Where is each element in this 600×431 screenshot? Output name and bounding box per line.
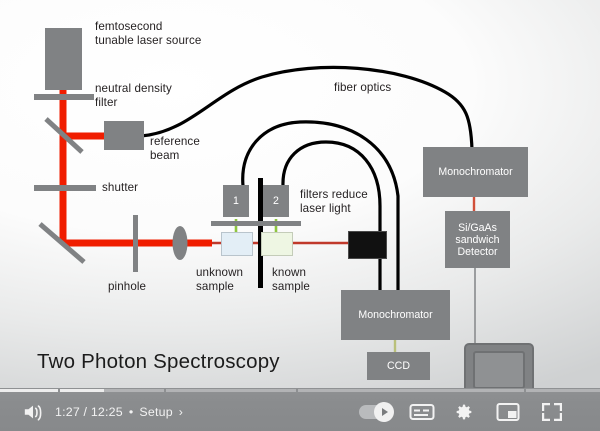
autoplay-toggle-icon[interactable]: [359, 405, 391, 419]
fullscreen-button[interactable]: [532, 392, 572, 431]
label-shutter: shutter: [102, 181, 138, 195]
monochromator-top-label: Monochromator: [423, 166, 528, 178]
volume-button[interactable]: [16, 392, 50, 431]
focusing-lens: [173, 226, 188, 260]
filter-box-1-label: 1: [223, 195, 249, 207]
video-player[interactable]: 1 2 Monochromator Si/GaAs sandwich Detec…: [0, 0, 600, 431]
subtitles-button[interactable]: [404, 392, 440, 431]
controls-row[interactable]: 1:27 / 12:25 • Setup ›: [0, 392, 600, 431]
label-filters-reduce-laser-light: filters reduce laser light: [300, 188, 368, 215]
chapter-separator: •: [123, 405, 140, 419]
filter-bar-2: [251, 221, 301, 226]
computer-monitor: [459, 344, 539, 388]
monochromator-bottom-box: Monochromator: [341, 290, 450, 340]
closed-captions-icon: [409, 403, 435, 421]
filter-box-1: 1: [223, 185, 249, 217]
label-reference-beam: reference beam: [150, 135, 200, 162]
fullscreen-icon: [541, 402, 563, 422]
autoplay-toggle[interactable]: [352, 392, 398, 431]
known-sample-cuvette: [261, 232, 293, 256]
detector-box: Si/GaAs sandwich Detector: [445, 211, 510, 268]
filter-box-2-label: 2: [263, 195, 289, 207]
label-unknown-sample: unknown sample: [196, 266, 243, 293]
time-display: 1:27 / 12:25: [55, 405, 123, 419]
unknown-sample-cuvette: [221, 232, 253, 256]
beam-dump: [348, 231, 387, 259]
filter-box-2: 2: [263, 185, 289, 217]
miniplayer-icon: [496, 402, 520, 422]
slide-title: Two Photon Spectroscopy: [37, 350, 280, 374]
settings-button[interactable]: [446, 392, 482, 431]
neutral-density-filter-bar: [34, 94, 94, 100]
autoplay-toggle-knob: [374, 402, 394, 422]
label-laser-source: femtosecond tunable laser source: [95, 20, 201, 47]
volume-icon: [22, 402, 44, 422]
ccd-label: CCD: [367, 360, 430, 372]
miniplayer-button[interactable]: [490, 392, 526, 431]
time-and-chapter: 1:27 / 12:25 • Setup ›: [55, 392, 189, 431]
pinhole-bar: [133, 215, 138, 272]
monochromator-bottom-label: Monochromator: [341, 309, 450, 321]
video-frame[interactable]: 1 2 Monochromator Si/GaAs sandwich Detec…: [0, 0, 600, 388]
gear-icon: [453, 401, 475, 423]
detector-label: Si/GaAs sandwich Detector: [445, 222, 510, 258]
ccd-box: CCD: [367, 352, 430, 380]
label-fiber-optics: fiber optics: [334, 81, 391, 95]
chapter-title[interactable]: Setup: [139, 405, 172, 419]
label-known-sample: known sample: [272, 266, 310, 293]
monochromator-top-box: Monochromator: [423, 147, 528, 197]
chapter-chevron-icon[interactable]: ›: [173, 405, 189, 419]
label-pinhole: pinhole: [108, 280, 146, 294]
player-control-bar[interactable]: 1:27 / 12:25 • Setup ›: [0, 388, 600, 431]
reference-beam-box: [104, 121, 144, 150]
label-neutral-density-filter: neutral density filter: [95, 82, 172, 109]
shutter-bar: [34, 185, 96, 191]
laser-source-box: [45, 28, 82, 90]
